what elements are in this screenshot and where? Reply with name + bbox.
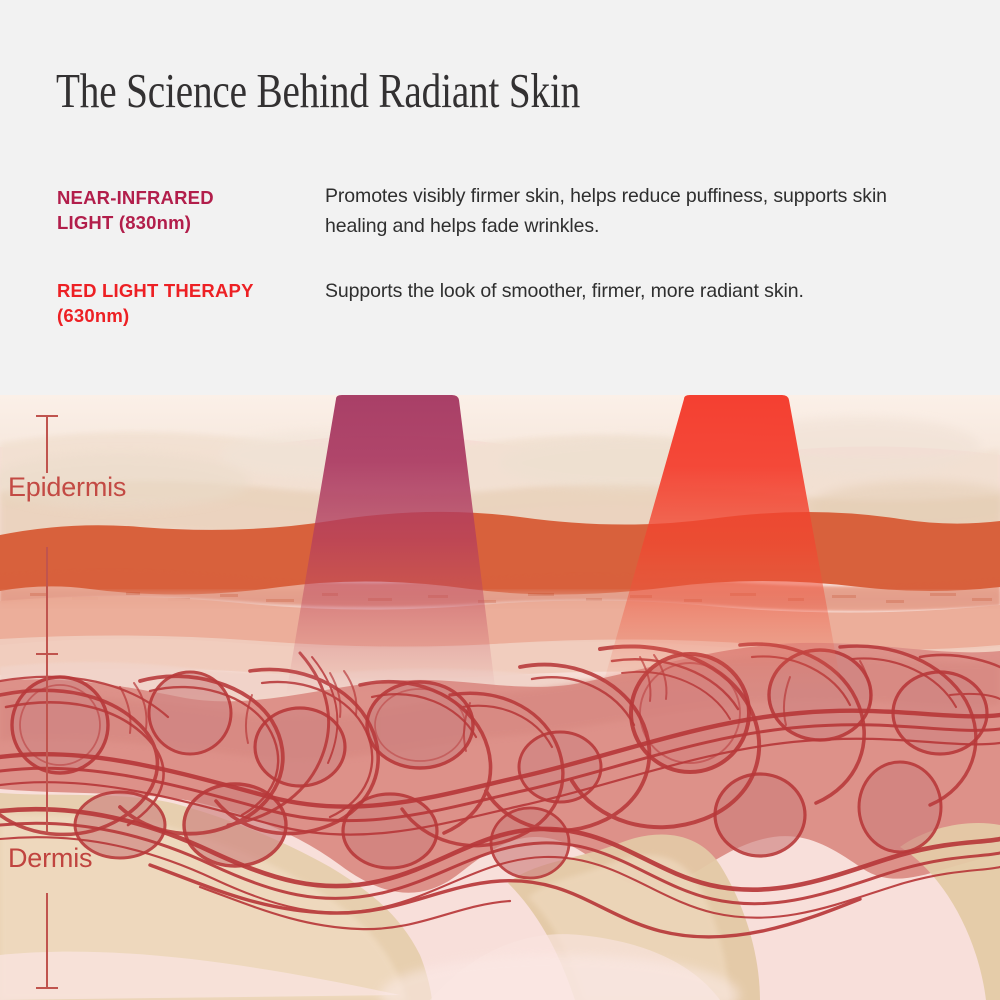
dermis-stem-lower	[46, 893, 48, 987]
page-title: The Science Behind Radiant Skin	[56, 62, 580, 119]
infographic-root: The Science Behind Radiant Skin NEAR-INF…	[0, 0, 1000, 1000]
near-infrared-label-line2: LIGHT (830nm)	[57, 212, 191, 233]
header-panel: The Science Behind Radiant Skin NEAR-INF…	[0, 0, 1000, 395]
skin-cross-section-illustration	[0, 395, 1000, 1000]
near-infrared-label-line1: NEAR-INFRARED	[57, 187, 214, 208]
layer-label-epidermis: Epidermis	[8, 472, 126, 503]
red-light-label-line1: RED LIGHT THERAPY	[57, 280, 254, 301]
layer-label-dermis: Dermis	[8, 843, 92, 874]
dermis-bracket	[46, 655, 68, 990]
dermis-tick-bottom	[36, 987, 58, 989]
near-infrared-label: NEAR-INFRARED LIGHT (830nm)	[57, 186, 317, 235]
dermis-stem-upper	[46, 655, 48, 833]
red-light-label: RED LIGHT THERAPY (630nm)	[57, 279, 322, 328]
red-light-description: Supports the look of smoother, firmer, m…	[325, 276, 965, 306]
red-light-label-line2: (630nm)	[57, 305, 129, 326]
epidermis-stem-upper	[46, 415, 48, 473]
epidermis-stem-lower	[46, 547, 48, 653]
near-infrared-description: Promotes visibly firmer skin, helps redu…	[325, 181, 945, 241]
epidermis-bracket	[46, 415, 68, 660]
